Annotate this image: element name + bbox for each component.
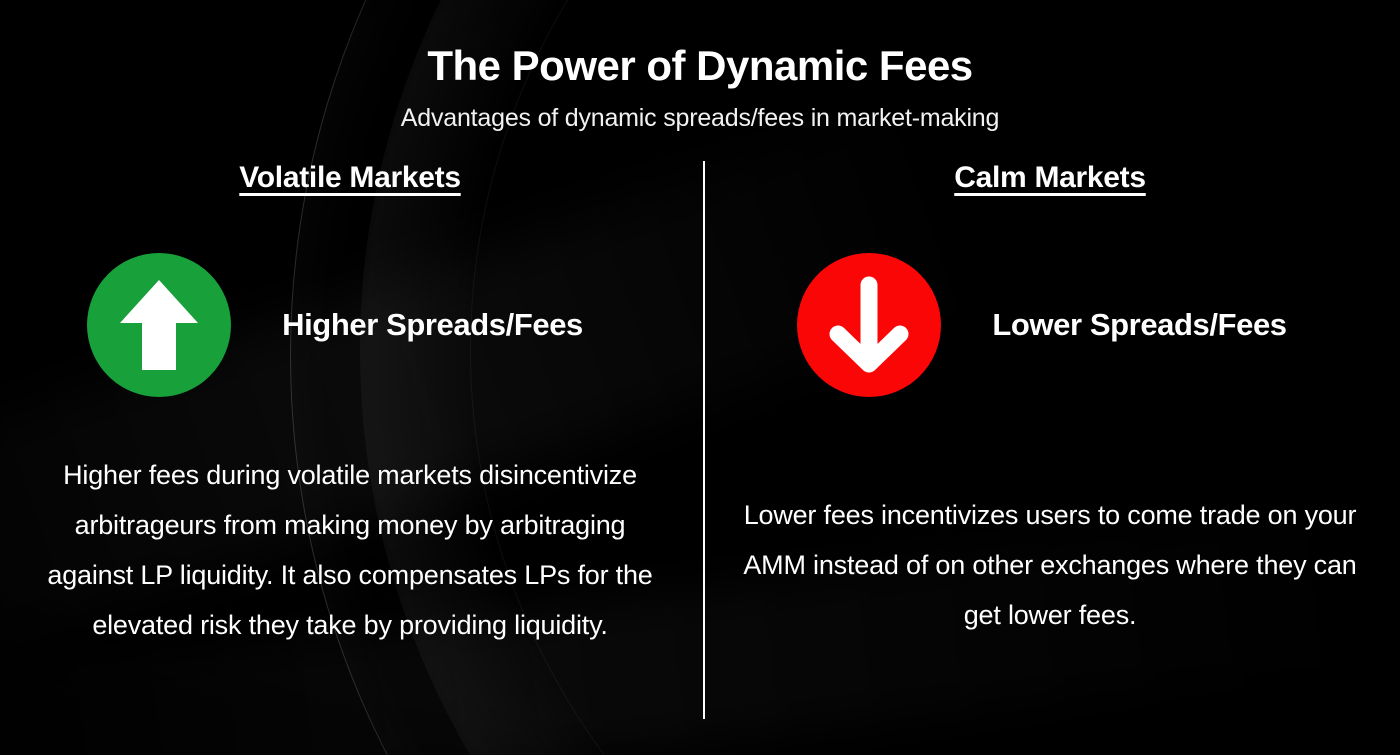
column-body-calm: Lower fees incentivizes users to come tr… [740,491,1360,641]
column-volatile-markets: Volatile Markets Higher Spreads/Fees Hig… [0,161,700,741]
column-heading-volatile: Volatile Markets [239,161,460,195]
icon-row-calm: Lower Spreads/Fees [797,253,1286,397]
column-body-volatile: Higher fees during volatile markets disi… [45,451,655,651]
column-calm-markets: Calm Markets Lower Spreads/Fees Lower fe… [700,161,1400,741]
arrow-down-circle-icon [797,253,941,397]
header: The Power of Dynamic Fees Advantages of … [0,0,1400,133]
column-heading-calm: Calm Markets [954,161,1146,195]
infographic-slide: The Power of Dynamic Fees Advantages of … [0,0,1400,755]
icon-label-lower-spreads: Lower Spreads/Fees [992,307,1286,343]
page-title: The Power of Dynamic Fees [0,44,1400,88]
comparison-columns: Volatile Markets Higher Spreads/Fees Hig… [0,161,1400,741]
icon-row-volatile: Higher Spreads/Fees [87,253,583,397]
arrow-up-circle-icon [87,253,231,397]
icon-label-higher-spreads: Higher Spreads/Fees [282,307,583,343]
page-subtitle: Advantages of dynamic spreads/fees in ma… [0,104,1400,133]
vertical-divider [703,161,705,719]
